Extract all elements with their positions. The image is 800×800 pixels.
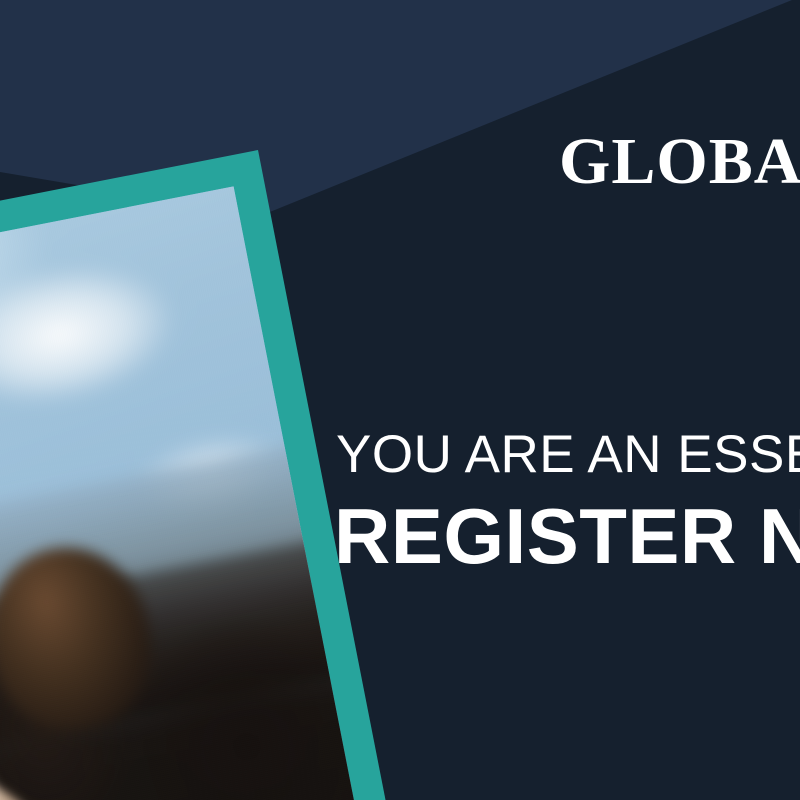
headline-kicker: YOU ARE AN ESSENT [336, 428, 800, 481]
brand-wordmark: GLOBA [559, 129, 800, 195]
headline-cta: REGISTER NO [334, 497, 800, 575]
promo-poster: GLOBA YOU ARE AN ESSENT REGISTER NO [0, 0, 800, 800]
